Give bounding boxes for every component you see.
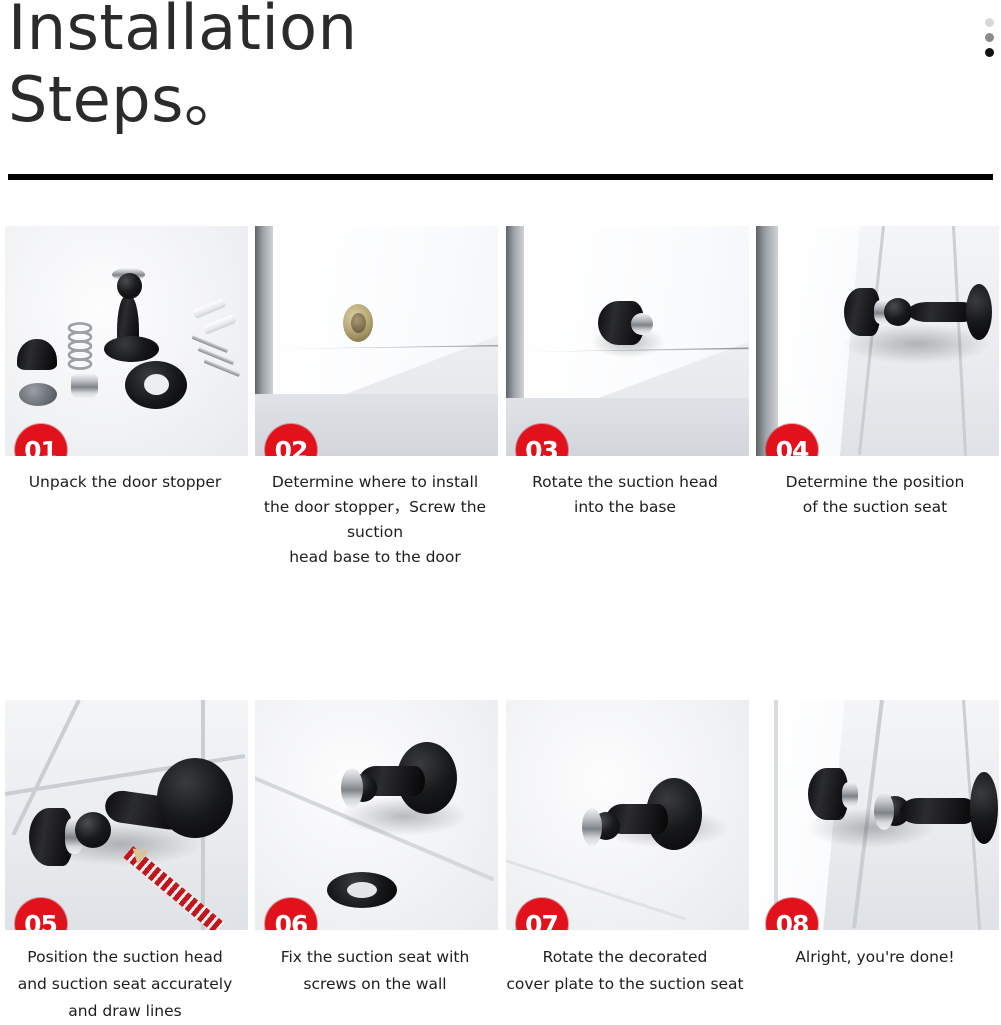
step-card-04[interactable]: 04 Determine the position of the suction… xyxy=(750,226,1000,570)
step-photo-03: 03 xyxy=(506,226,749,456)
suction-head-collar xyxy=(842,782,858,808)
step-card-06[interactable]: 06 Fix the suction seat with screws on t… xyxy=(250,700,500,1025)
step-card-08[interactable]: 08 Alright, you're done! xyxy=(750,700,1000,1025)
step-photo-05: 05 xyxy=(5,700,248,930)
step-card-07[interactable]: 07 Rotate the decorated cover plate to t… xyxy=(500,700,750,1025)
cover-plate-ring-hole xyxy=(347,882,377,898)
page-title: Installation Steps。 xyxy=(8,0,357,136)
rubber-cone-part xyxy=(17,339,57,370)
suction-head-ball xyxy=(117,273,142,299)
suction-seat-chrome-ring xyxy=(874,792,894,830)
step-card-03[interactable]: 03 Rotate the suction head into the base xyxy=(500,226,750,570)
step-caption-02: Determine where to install the door stop… xyxy=(256,470,494,570)
step-caption-06: Fix the suction seat with screws on the … xyxy=(256,944,494,998)
cover-plate-ring-hole xyxy=(144,374,169,395)
step-card-01[interactable]: 01 Unpack the door stopper xyxy=(0,226,250,570)
title-divider xyxy=(8,174,993,180)
pager-dots[interactable] xyxy=(985,18,994,57)
suction-head-chrome-ring xyxy=(631,313,653,335)
coupling-ball xyxy=(75,812,111,848)
step-caption-05: Position the suction head and suction se… xyxy=(6,944,244,1025)
step-photo-04: 04 xyxy=(756,226,999,456)
step-photo-08: 08 xyxy=(756,700,999,930)
suction-seat-plate xyxy=(966,284,992,340)
step-photo-02: 02 xyxy=(255,226,498,456)
step-photo-01: 01 xyxy=(5,226,248,456)
page-dot-3[interactable] xyxy=(985,48,994,57)
step-caption-04: Determine the position of the suction se… xyxy=(756,470,994,520)
page-header: Installation Steps。 xyxy=(0,0,1001,182)
step-photo-06: 06 xyxy=(255,700,498,930)
step-caption-07: Rotate the decorated cover plate to the … xyxy=(506,944,744,998)
steps-row-1: 01 Unpack the door stopper 02 Determine … xyxy=(0,226,1001,570)
page-dot-1[interactable] xyxy=(985,18,994,27)
step-caption-08: Alright, you're done! xyxy=(756,944,994,971)
spring-part xyxy=(65,321,95,373)
installation-steps-grid: 01 Unpack the door stopper 02 Determine … xyxy=(0,226,1001,1025)
magnet-disc-part xyxy=(19,383,57,406)
suction-seat-plate xyxy=(157,758,233,838)
suction-head-base-inner xyxy=(351,313,366,333)
suction-seat-plate xyxy=(970,772,998,844)
step-caption-01: Unpack the door stopper xyxy=(6,470,244,495)
step-card-05[interactable]: 05 Position the suction head and suction… xyxy=(0,700,250,1025)
steps-row-2: 05 Position the suction head and suction… xyxy=(0,700,1001,1025)
chrome-nut-part xyxy=(71,374,98,398)
suction-head-round-base xyxy=(104,336,159,362)
suction-seat-chrome-ring xyxy=(341,768,363,808)
suction-seat-shaft xyxy=(900,798,976,824)
step-caption-03: Rotate the suction head into the base xyxy=(506,470,744,520)
suction-seat-chrome-ring xyxy=(582,808,602,846)
step-card-02[interactable]: 02 Determine where to install the door s… xyxy=(250,226,500,570)
step-photo-07: 07 xyxy=(506,700,749,930)
page-dot-2[interactable] xyxy=(985,33,994,42)
